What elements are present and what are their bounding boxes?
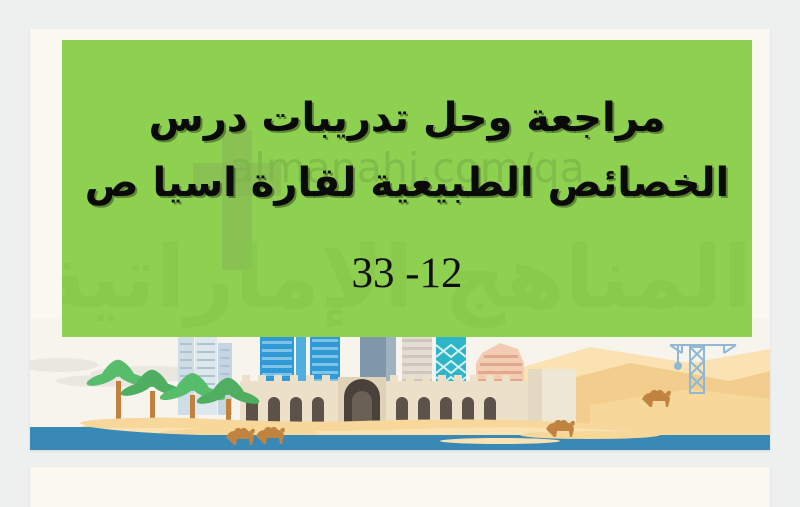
- page-range-label: 33 -12: [62, 249, 752, 298]
- next-slide-card: [30, 467, 770, 507]
- slide-card: almanahj.com/qa المناهج الإماراتية مراجع…: [30, 29, 770, 450]
- title-line-2: الخصائص الطبيعية لقارة اسيا ص: [62, 151, 752, 216]
- arabian-gulf-skyline-illustration: [30, 319, 770, 450]
- title-line-1: مراجعة وحل تدريبات درس: [62, 86, 752, 151]
- title-panel: almanahj.com/qa المناهج الإماراتية مراجع…: [62, 40, 752, 337]
- slide-title: مراجعة وحل تدريبات درس الخصائص الطبيعية …: [62, 86, 752, 216]
- page-root: almanahj.com/qa المناهج الإماراتية مراجع…: [0, 0, 800, 474]
